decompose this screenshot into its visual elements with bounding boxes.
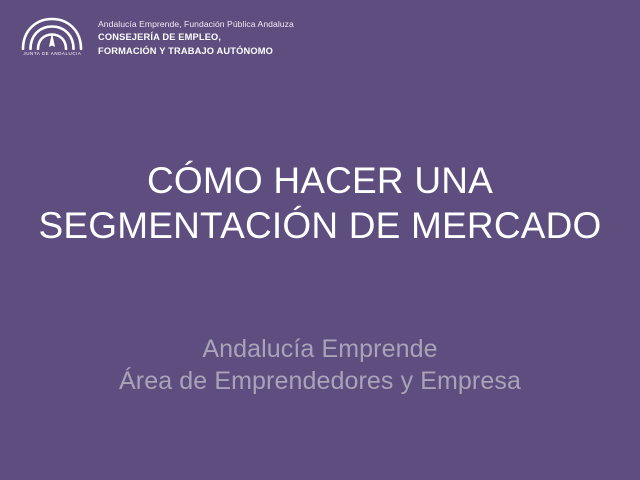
presentation-title-slide: JUNTA DE ANDALUCIA Andalucía Emprende, F…	[0, 0, 640, 480]
slide-subtitle: Andalucía Emprende Área de Emprendedores…	[0, 334, 640, 398]
junta-logo-caption: JUNTA DE ANDALUCIA	[23, 51, 81, 56]
brand-consejeria-line-2: FORMACIÓN Y TRABAJO AUTÓNOMO	[98, 46, 294, 57]
slide-title: CÓMO HACER UNA SEGMENTACIÓN DE MERCADO	[0, 158, 640, 248]
junta-de-andalucia-arches-icon	[20, 16, 84, 50]
junta-logo-block: JUNTA DE ANDALUCIA	[18, 14, 86, 56]
brand-consejeria-line-1: CONSEJERÍA DE EMPLEO,	[98, 32, 294, 43]
brand-entity-name: Andalucía Emprende, Fundación Pública An…	[98, 19, 294, 29]
brand-header: JUNTA DE ANDALUCIA Andalucía Emprende, F…	[18, 14, 294, 57]
slide-subtitle-line-2: Área de Emprendedores y Empresa	[0, 366, 640, 398]
slide-title-line-1: CÓMO HACER UNA	[0, 158, 640, 203]
brand-text-block: Andalucía Emprende, Fundación Pública An…	[98, 14, 294, 57]
slide-subtitle-line-1: Andalucía Emprende	[0, 334, 640, 366]
slide-title-line-2: SEGMENTACIÓN DE MERCADO	[0, 203, 640, 248]
